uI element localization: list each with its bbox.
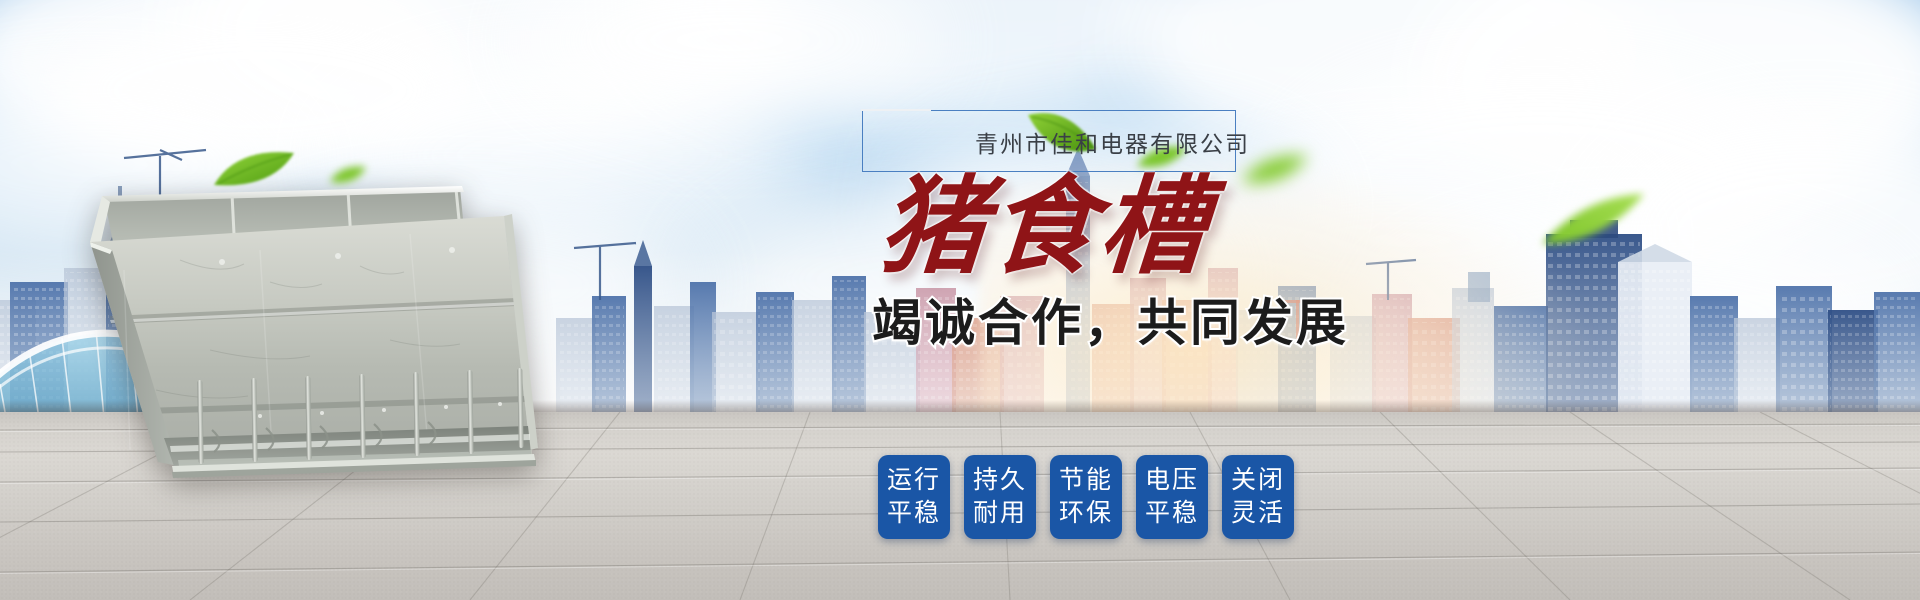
product-image [60,150,580,480]
badge-line-2: 耐用 [973,497,1027,530]
feature-badge[interactable]: 运行 平稳 [878,455,950,539]
feature-badge[interactable]: 电压 平稳 [1136,455,1208,539]
badge-line-2: 环保 [1059,497,1113,530]
subtitle: 竭诚合作，共同发展 [872,295,1349,351]
promo-banner: 青州市佳和电器有限公司 猪食槽 竭诚合作，共同发展 运行 平稳 持久 耐用 节能… [0,0,1920,600]
badge-line-2: 灵活 [1231,497,1285,530]
leaf-icon [1538,190,1648,250]
feature-badge[interactable]: 节能 环保 [1050,455,1122,539]
leaf-icon [328,162,368,188]
badge-line-2: 平稳 [887,497,941,530]
badge-line-1: 节能 [1059,464,1113,497]
badge-line-1: 运行 [887,464,941,497]
badge-line-1: 关闭 [1231,464,1285,497]
page-title: 猪食槽 [876,168,1304,288]
feature-badge[interactable]: 关闭 灵活 [1222,455,1294,539]
badge-line-1: 持久 [973,464,1027,497]
feature-badge-list: 运行 平稳 持久 耐用 节能 环保 电压 平稳 关闭 灵活 [878,455,1294,539]
company-name: 青州市佳和电器有限公司 [890,125,1250,159]
badge-line-2: 平稳 [1145,497,1199,530]
feature-badge[interactable]: 持久 耐用 [964,455,1036,539]
leaf-icon [210,145,300,195]
badge-line-1: 电压 [1145,464,1199,497]
